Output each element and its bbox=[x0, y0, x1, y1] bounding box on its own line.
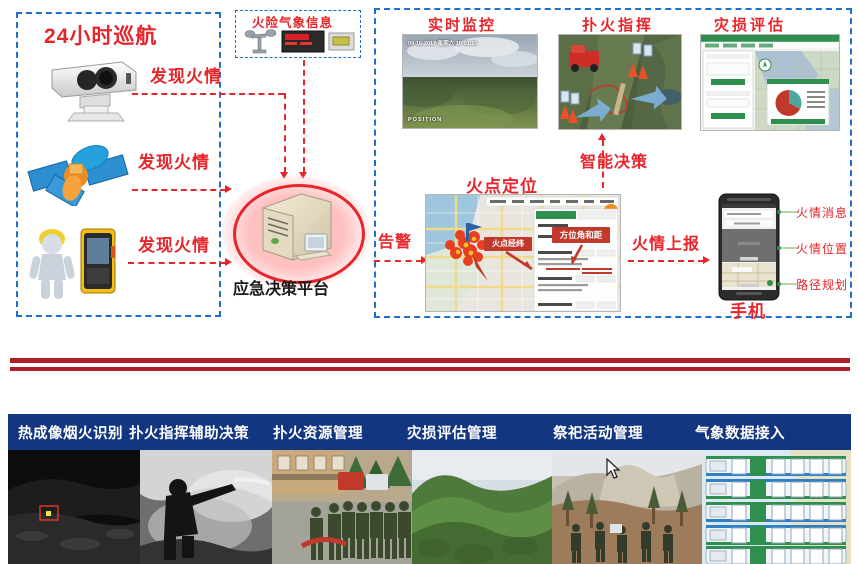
arrow-label-detect-3: 发现火情 bbox=[138, 231, 210, 256]
field-patroller-icon bbox=[22, 222, 82, 300]
thumbnail-firefighter-hose[interactable] bbox=[140, 450, 272, 564]
platform-label: 应急决策平台 bbox=[233, 275, 329, 299]
arrow-label-detect-2: 发现火情 bbox=[138, 148, 210, 173]
diagram-canvas: 24小时巡航 bbox=[0, 0, 859, 564]
phone-label: 手机 bbox=[730, 297, 766, 322]
flow-arrow-satellite-head bbox=[225, 185, 232, 193]
assessment-title: 灾损评估 bbox=[714, 14, 786, 35]
arrow-label-detect-1: 发现火情 bbox=[150, 62, 222, 87]
divider-rule-top bbox=[10, 358, 850, 363]
flow-arrow-weather bbox=[303, 60, 305, 173]
handheld-terminal-icon bbox=[80, 228, 116, 294]
command-title: 扑火指挥 bbox=[582, 14, 654, 35]
flow-arrow-fire-report bbox=[628, 260, 704, 262]
thermal-camera-icon bbox=[40, 50, 148, 122]
thumbnail-burned-mountain-crew[interactable] bbox=[552, 450, 702, 564]
flow-arrow-alarm bbox=[374, 260, 422, 262]
phone-feature-2: 火情位置 bbox=[796, 240, 848, 257]
thumbnail-thermal-night-detection[interactable] bbox=[8, 450, 140, 564]
phone-feature-1: 火情消息 bbox=[796, 204, 848, 221]
flow-arrow-camera bbox=[132, 93, 284, 95]
callout-label-bearing: 方位角和距 bbox=[553, 229, 609, 241]
flow-label-alarm: 告警 bbox=[378, 228, 412, 252]
feature-navbar: 热成像烟火识别 扑火指挥辅助决策 扑火资源管理 灾损评估管理 祭祀活动管理 气象… bbox=[8, 414, 851, 450]
thumbnail-weather-sensor-rack[interactable] bbox=[702, 450, 851, 564]
nav-item-thermal-recognition[interactable]: 热成像烟火识别 bbox=[18, 422, 123, 443]
flow-label-fire-report: 火情上报 bbox=[632, 230, 700, 254]
monitor-timestamp-overlay: 09-16-2017 星期六 10:01:01 bbox=[408, 39, 478, 47]
divider-rule-bottom bbox=[10, 367, 850, 371]
thumbnail-fire-brigade-team[interactable] bbox=[272, 450, 412, 564]
flow-arrow-satellite bbox=[132, 189, 226, 191]
flow-arrow-fire-report-head bbox=[703, 256, 710, 264]
satellite-icon bbox=[26, 138, 131, 206]
feature-thumbnail-strip bbox=[8, 450, 851, 564]
flow-arrow-camera-vert bbox=[284, 93, 286, 173]
callout-label-coordinates: 火点经纬 bbox=[486, 238, 530, 249]
weather-sensor-icon bbox=[240, 28, 356, 55]
flow-arrow-smart-decision-head bbox=[598, 133, 606, 140]
command-screenshot bbox=[558, 34, 682, 130]
assessment-screenshot bbox=[700, 34, 840, 131]
nav-item-resource-management[interactable]: 扑火资源管理 bbox=[273, 422, 363, 443]
fire-locate-screenshot: 火点经纬 方位角和距 bbox=[425, 194, 621, 312]
mouse-cursor bbox=[606, 458, 622, 480]
monitor-title: 实时监控 bbox=[428, 14, 496, 35]
thumbnail-green-forest-hills[interactable] bbox=[412, 450, 552, 564]
nav-item-damage-assessment[interactable]: 灾损评估管理 bbox=[407, 422, 497, 443]
monitor-position-overlay: POSITION bbox=[408, 117, 442, 123]
flow-label-smart-decision: 智能决策 bbox=[580, 148, 648, 172]
flow-arrow-patroller bbox=[128, 262, 226, 264]
left-panel-title: 24小时巡航 bbox=[44, 20, 157, 50]
nav-item-ritual-activity[interactable]: 祭祀活动管理 bbox=[553, 422, 643, 443]
phone-feature-3: 路径规划 bbox=[796, 276, 848, 293]
nav-item-weather-data[interactable]: 气象数据接入 bbox=[695, 422, 785, 443]
phone-mockup bbox=[718, 193, 780, 301]
monitor-screenshot: 09-16-2017 星期六 10:01:01 POSITION bbox=[402, 34, 538, 129]
nav-item-command-decision[interactable]: 扑火指挥辅助决策 bbox=[129, 422, 249, 443]
server-icon bbox=[255, 190, 341, 272]
